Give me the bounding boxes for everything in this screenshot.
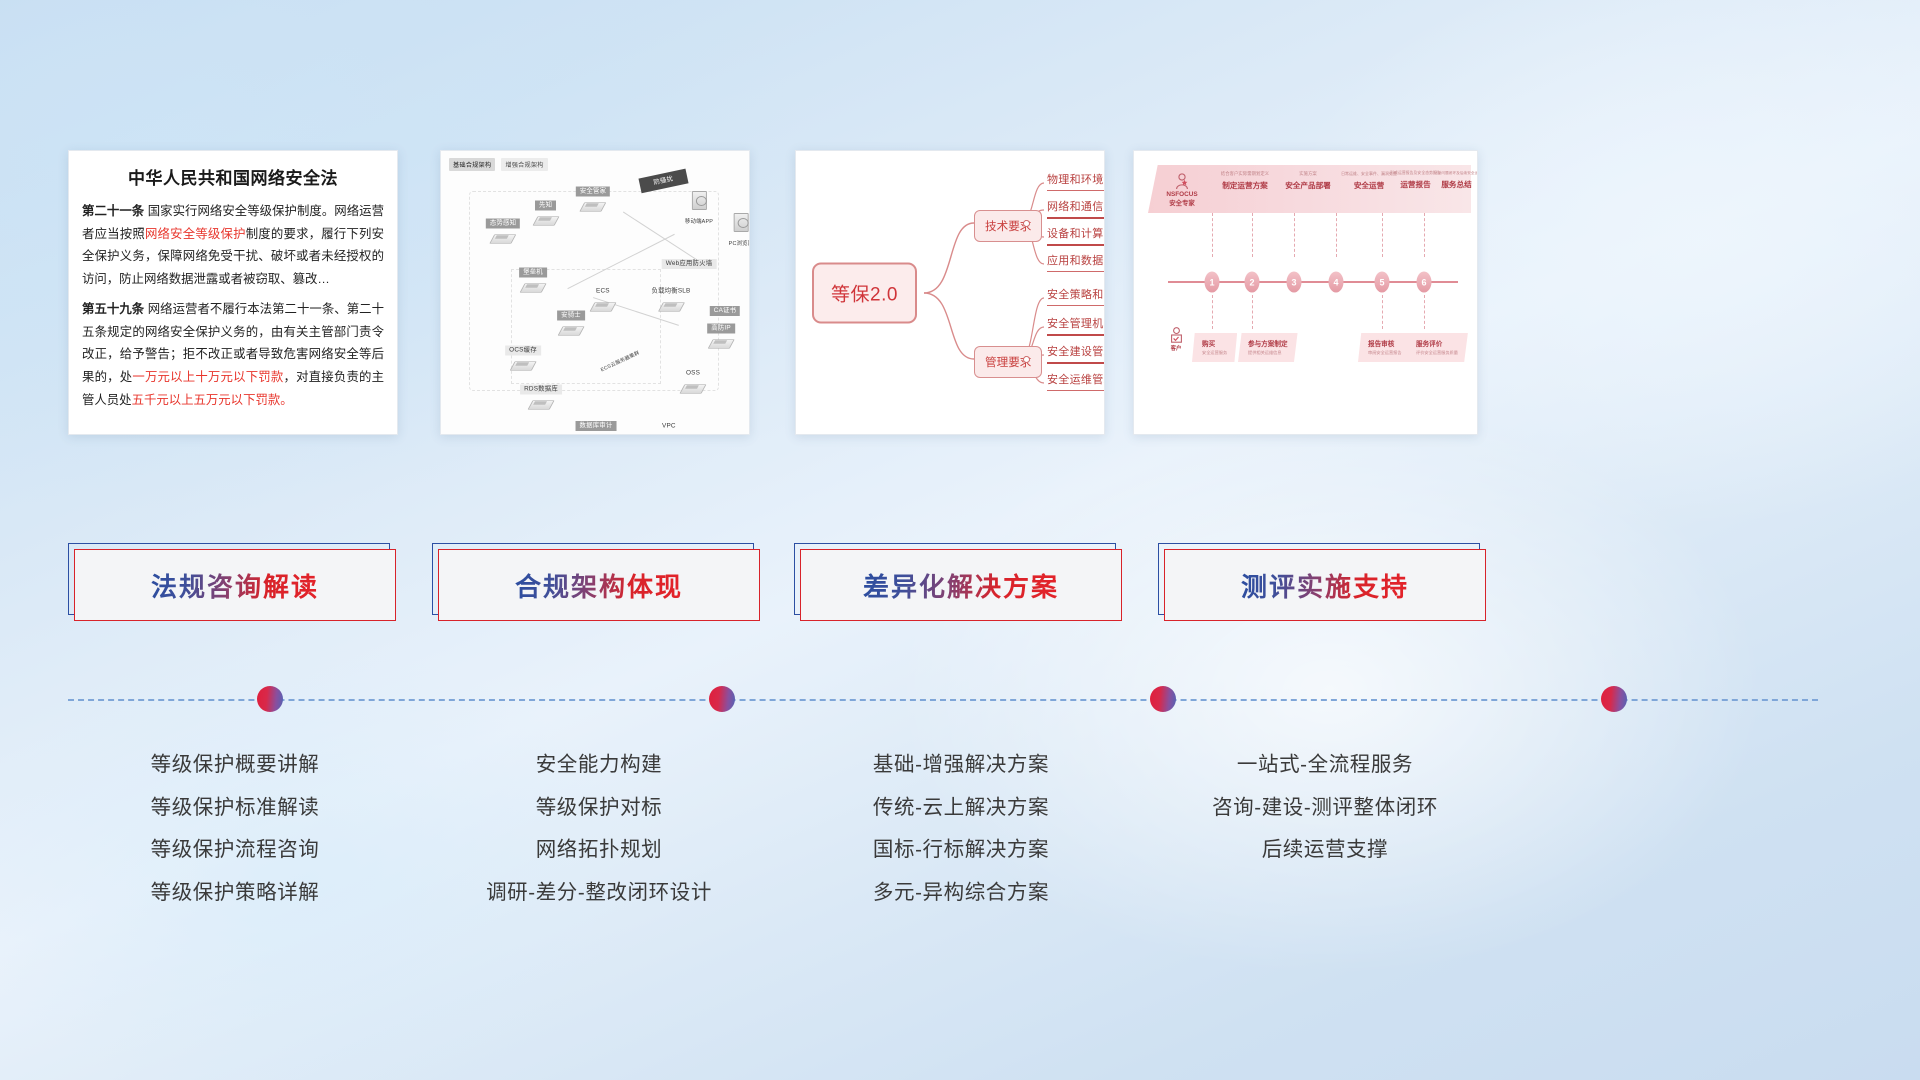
mindmap-branch-management: 管理要求 [974, 346, 1042, 378]
node-dropline [1424, 213, 1425, 257]
arch-node: 防骚扰 [638, 165, 689, 194]
headline-box-front: 合规架构体现 [438, 549, 760, 621]
mindmap: 等保2.0 技术要求 管理要求 物理和环境安全 网络和通信安全 设备和计算安全 … [796, 151, 1104, 434]
tag-title: 购买 [1202, 338, 1227, 348]
expert-name: NSFOCUS [1166, 191, 1197, 198]
timeline-track [68, 699, 1818, 701]
list-item: 咨询-建设-测评整体闭环 [1150, 798, 1500, 819]
law-title: 中华人民共和国网络安全法 [69, 164, 397, 189]
tag-sub: 审阅安全运营报告 [1368, 350, 1402, 356]
feature-list-4: 一站式-全流程服务 咨询-建设-测评整体闭环 后续运营支撑 [1150, 755, 1500, 883]
list-item: 等级保护策略详解 [74, 883, 396, 904]
arch-node: 态势感知 [486, 212, 520, 247]
arch-node: OSS [682, 362, 704, 397]
nsfocus-bottom-tag: 参与方案制定 提供相关运维信息 [1238, 333, 1298, 362]
nsfocus-expert-label: NSFOCUS 安全专家 [1156, 173, 1208, 208]
list-item: 传统-云上解决方案 [800, 798, 1122, 819]
arch-node-label: RDS数据库 [520, 384, 562, 394]
nsfocus-bottom-tag: 报告审核 审阅安全运营报告 [1358, 333, 1412, 362]
arch-node-label: VPC [658, 421, 680, 431]
nsfocus-banner-cell: 针对问题闭环及后续安全运营建议 服务总结 [1434, 171, 1478, 190]
mindmap-leaf: 应用和数据安全 [1047, 252, 1105, 272]
arch-node: 数据库审计 [576, 414, 617, 432]
nsfocus-banner-cell: 结合客户实际需期划定义 制定运营方案 [1214, 171, 1276, 191]
arch-node-label: OCS缓存 [505, 345, 541, 355]
mindmap-leaf: 安全管理机构和人员 [1047, 315, 1105, 336]
mindmap-leaf: 设备和计算安全 [1047, 225, 1105, 246]
list-item: 等级保护概要讲解 [74, 755, 396, 776]
architecture-tabs: 基础合规架构 增强合规架构 [449, 158, 548, 171]
node-dropline [1252, 213, 1253, 257]
headline-box-3[interactable]: 差异化解决方案 [800, 549, 1122, 621]
headline-box-front: 测评实施支持 [1164, 549, 1486, 621]
headline-text: 法规咨询解读 [151, 567, 319, 604]
nsfocus-step[interactable]: 5 [1375, 272, 1390, 293]
nsfocus-step[interactable]: 1 [1205, 272, 1220, 293]
headline-text: 差异化解决方案 [863, 567, 1059, 604]
timeline-dot-1[interactable] [257, 686, 283, 712]
headline-box-front: 差异化解决方案 [800, 549, 1122, 621]
list-item: 等级保护标准解读 [74, 798, 396, 819]
arch-node: Web应用防火墙 [662, 252, 717, 270]
arch-node-label: ECS [592, 286, 614, 296]
node-dropline [1294, 213, 1295, 257]
arch-node-label: 移动端APP [681, 219, 717, 228]
feature-list-3: 基础-增强解决方案 传统-云上解决方案 国标-行标解决方案 多元-异构综合方案 [800, 755, 1122, 925]
node-dropline [1382, 213, 1383, 257]
arch-node: 先知 [535, 194, 557, 229]
mindmap-leaf: 安全运维管理 [1047, 371, 1105, 391]
arch-node: 负载均衡SLB [647, 280, 694, 315]
arch-node-label: 负载均衡SLB [647, 286, 694, 296]
tab-basic-compliance[interactable]: 基础合规架构 [449, 158, 495, 171]
arch-node: 堡垒机 [519, 261, 547, 296]
mindmap-node-dot[interactable] [1023, 356, 1030, 363]
arch-node-label: 数据库审计 [576, 421, 617, 431]
arch-node: ECS [592, 280, 614, 315]
nsfocus-diagram: NSFOCUS 安全专家 结合客户实际需期划定义 制定运营方案 实施方案 安全产… [1134, 151, 1477, 434]
list-item: 基础-增强解决方案 [800, 755, 1122, 776]
list-item: 多元-异构综合方案 [800, 883, 1122, 904]
mindmap-card: 等保2.0 技术要求 管理要求 物理和环境安全 网络和通信安全 设备和计算安全 … [795, 150, 1105, 435]
list-item: 等级保护对标 [438, 798, 760, 819]
list-item: 后续运营支撑 [1150, 840, 1500, 861]
arch-node-label: 先知 [535, 200, 556, 210]
arch-node: VPC [658, 415, 680, 436]
list-item: 国标-行标解决方案 [800, 840, 1122, 861]
headline-box-1[interactable]: 法规咨询解读 [74, 549, 396, 621]
law-seg-red: 五千元以上五万元以下罚款。 [132, 393, 293, 407]
mindmap-root: 等保2.0 [812, 262, 917, 323]
law-paragraph: 第二十一条 国家实行网络安全等级保护制度。网络运营者应当按照网络安全等级保护制度… [82, 200, 384, 291]
customer-name: 客户 [1171, 346, 1182, 352]
expert-role: 安全专家 [1169, 200, 1195, 207]
law-seg-red: 网络安全等级保护 [145, 227, 246, 241]
tab-enhanced-compliance[interactable]: 增强合规架构 [501, 158, 547, 171]
cell-main: 制定运营方案 [1214, 180, 1276, 191]
law-article-number: 第五十九条 [82, 302, 144, 316]
node-dropline [1424, 295, 1425, 329]
nsfocus-timeline-card: NSFOCUS 安全专家 结合客户实际需期划定义 制定运营方案 实施方案 安全产… [1133, 150, 1478, 435]
mindmap-leaf: 网络和通信安全 [1047, 198, 1105, 219]
node-dropline [1382, 295, 1383, 329]
law-text-card: 中华人民共和国网络安全法 第二十一条 国家实行网络安全等级保护制度。网络运营者应… [68, 150, 398, 435]
nsfocus-step[interactable]: 4 [1329, 272, 1344, 293]
node-dropline [1252, 295, 1253, 329]
tag-sub: 评价安全运营服务质量 [1416, 350, 1458, 356]
arch-node-label: 安骑士 [557, 310, 585, 320]
timeline-dot-3[interactable] [1150, 686, 1176, 712]
list-item: 等级保护流程咨询 [74, 840, 396, 861]
timeline-dot-2[interactable] [709, 686, 735, 712]
nsfocus-banner-cell: 实施方案 安全产品部署 [1279, 171, 1337, 191]
mindmap-leaf: 安全建设管理 [1047, 343, 1105, 364]
arch-node-label: 高防IP [707, 323, 735, 333]
arch-node: 安全管家 [576, 180, 610, 215]
poster-stage: 中华人民共和国网络安全法 第二十一条 国家实行网络安全等级保护制度。网络运营者应… [0, 0, 1920, 1080]
mindmap-branch-technical: 技术要求 [974, 210, 1042, 242]
customer-person-icon [1170, 327, 1183, 343]
node-dropline [1212, 295, 1213, 329]
arch-node-label: Web应用防火墙 [662, 259, 717, 269]
tag-title: 服务评价 [1416, 338, 1458, 348]
headline-text: 合规架构体现 [515, 567, 683, 604]
list-item: 一站式-全流程服务 [1150, 755, 1500, 776]
cloud-architecture-card: 基础合规架构 增强合规架构 态势感知 先知 安全管家 防骚扰 堡垒机 ECS [440, 150, 750, 435]
architecture-diagram: 基础合规架构 增强合规架构 态势感知 先知 安全管家 防骚扰 堡垒机 ECS [441, 151, 749, 434]
tag-sub: 提供相关运维信息 [1248, 350, 1288, 356]
law-seg-red: 一万元以上十万元以下罚款 [132, 370, 283, 384]
arch-node-label: OSS [682, 368, 704, 378]
arch-node-label: PC浏览器 [725, 241, 750, 250]
list-item: 网络拓扑规划 [438, 840, 760, 861]
headline-box-2[interactable]: 合规架构体现 [438, 549, 760, 621]
node-dropline [1212, 213, 1213, 257]
arch-node: PC浏览器 [725, 212, 750, 250]
list-item: 安全能力构建 [438, 755, 760, 776]
cell-main: 服务总结 [1434, 179, 1478, 190]
arch-node: CA证书 [710, 299, 740, 317]
arch-node-label: 态势感知 [486, 218, 520, 228]
arch-node: OCS缓存 [505, 339, 541, 374]
tag-title: 参与方案制定 [1248, 338, 1288, 348]
law-body: 第二十一条 国家实行网络安全等级保护制度。网络运营者应当按照网络安全等级保护制度… [69, 200, 397, 421]
cell-sub: 针对问题闭环及后续安全运营建议 [1434, 171, 1478, 176]
nsfocus-step[interactable]: 3 [1287, 272, 1302, 293]
customer-label: 客户 [1156, 327, 1196, 352]
node-dropline [1336, 213, 1337, 257]
law-article-number: 第二十一条 [82, 204, 144, 218]
headline-box-front: 法规咨询解读 [74, 549, 396, 621]
mindmap-leaf: 物理和环境安全 [1047, 171, 1105, 191]
timeline-dot-4[interactable] [1601, 686, 1627, 712]
headline-text: 测评实施支持 [1241, 567, 1409, 604]
list-item: 调研-差分-整改闭环设计 [438, 883, 760, 904]
tag-sub: 安全运营服务 [1202, 350, 1227, 356]
cell-main: 安全产品部署 [1279, 180, 1337, 191]
headline-box-4[interactable]: 测评实施支持 [1164, 549, 1486, 621]
arch-node: 安骑士 [557, 304, 585, 339]
cell-sub: 实施方案 [1279, 171, 1337, 177]
law-paragraph: 第五十九条 网络运营者不履行本法第二十一条、第二十五条规定的网络安全保护义务的，… [82, 298, 384, 412]
nsfocus-bottom-tag: 服务评价 评价安全运营服务质量 [1406, 333, 1468, 362]
arch-node: 高防IP [707, 317, 735, 352]
mindmap-leaf: 安全策略和管理制度 [1047, 286, 1105, 306]
arch-node: RDS数据库 [520, 378, 562, 413]
nsfocus-bottom-tag: 购买 安全运营服务 [1192, 333, 1237, 362]
arch-node-label: 堡垒机 [519, 267, 547, 277]
tag-title: 报告审核 [1368, 338, 1402, 348]
feature-list-1: 等级保护概要讲解 等级保护标准解读 等级保护流程咨询 等级保护策略详解 [74, 755, 396, 925]
nsfocus-step[interactable]: 2 [1245, 272, 1260, 293]
nsfocus-step[interactable]: 6 [1417, 272, 1432, 293]
feature-list-2: 安全能力构建 等级保护对标 网络拓扑规划 调研-差分-整改闭环设计 [438, 755, 760, 925]
arch-node: 移动端APP [681, 190, 717, 228]
mindmap-node-dot[interactable] [1023, 220, 1030, 227]
arch-node-label: CA证书 [710, 306, 740, 316]
cell-sub: 结合客户实际需期划定义 [1214, 171, 1276, 177]
expert-person-icon [1175, 173, 1189, 190]
arch-node-label: 安全管家 [576, 186, 610, 196]
